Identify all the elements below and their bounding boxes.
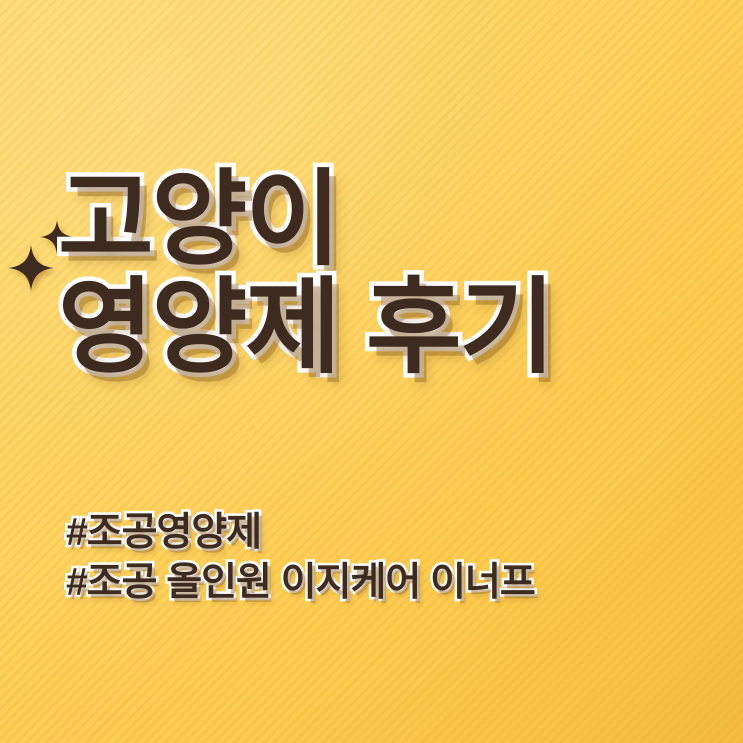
page-title: 고양이 영양제 후기 xyxy=(58,170,718,380)
promo-card: 고양이 영양제 후기 #조공영양제 #조공 올인원 이지케어 이너프 xyxy=(0,0,743,743)
title-line-1: 고양이 xyxy=(58,170,718,272)
title-line-2: 영양제 후기 xyxy=(58,278,718,380)
card-content: 고양이 영양제 후기 #조공영양제 #조공 올인원 이지케어 이너프 xyxy=(0,0,743,743)
hashtag-line-1: #조공영양제 xyxy=(66,508,706,558)
hashtag-line-2: #조공 올인원 이지케어 이너프 xyxy=(66,558,706,608)
sparkle-icon-large xyxy=(8,244,54,292)
hashtag-block: #조공영양제 #조공 올인원 이지케어 이너프 xyxy=(66,508,706,608)
